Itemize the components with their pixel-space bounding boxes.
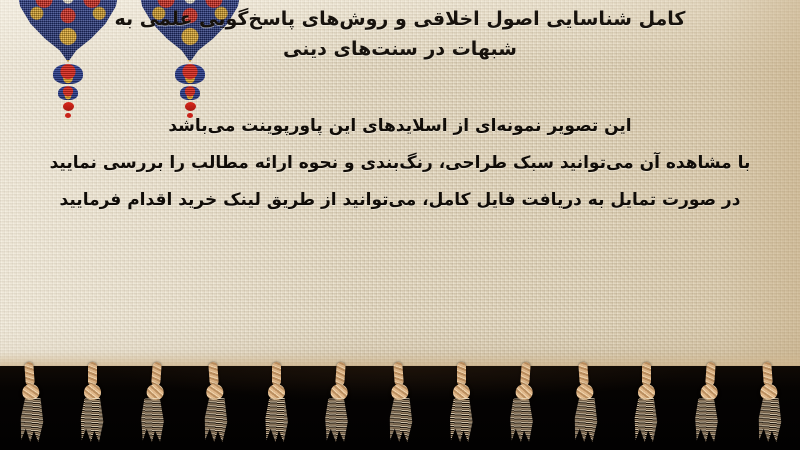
tassel-cord <box>704 362 715 387</box>
tassel-skirt <box>509 398 534 443</box>
carpet-fringe-tassel <box>629 362 663 442</box>
tassel-skirt <box>573 398 598 443</box>
tassel-skirt <box>758 398 783 443</box>
carpet-fringe-tassel <box>75 362 109 442</box>
tassel-knot <box>453 384 470 400</box>
tassel-skirt <box>140 398 165 443</box>
tassel-knot <box>638 384 655 400</box>
tassel-skirt <box>80 398 104 442</box>
tassel-cord <box>762 362 773 387</box>
carpet-fringe-band <box>0 366 800 450</box>
carpet-fringe-tassel <box>688 361 727 443</box>
tassel-cord <box>208 362 219 387</box>
tassel-cord <box>88 362 97 386</box>
carpet-fringe-tassel <box>380 361 419 443</box>
tassel-knot <box>84 384 101 400</box>
slide-body: این تصویر نمونه‌ای از اسلایدهای این پاور… <box>20 108 780 219</box>
carpet-fringe-tassel <box>196 361 235 443</box>
tassel-cord <box>272 362 281 386</box>
carpet-fringe-tassel <box>319 361 358 443</box>
carpet-fringe-tassel <box>260 362 294 442</box>
slide-body-line-1: این تصویر نمونه‌ای از اسلایدهای این پاور… <box>20 108 780 145</box>
tassel-cord <box>577 362 588 387</box>
tassel-skirt <box>19 398 44 443</box>
slide-body-line-2: با مشاهده آن می‌توانید سبک طراحی، رنگ‌بن… <box>20 145 780 182</box>
carpet-fringe-tassel <box>565 361 604 443</box>
tassel-skirt <box>265 398 289 442</box>
tassel-cord <box>335 362 346 387</box>
slide-canvas: کامل شناسایی اصول اخلاقی و روش‌های پاسخ‌… <box>0 0 800 450</box>
carpet-fringe-tassel <box>749 361 788 443</box>
tassel-skirt <box>325 398 350 443</box>
slide-title-line-1: کامل شناسایی اصول اخلاقی و روش‌های پاسخ‌… <box>90 4 710 34</box>
tassel-cord <box>642 362 651 386</box>
slide-body-line-3: در صورت تمایل به دریافت فایل کامل، می‌تو… <box>20 182 780 219</box>
tassel-skirt <box>694 398 719 443</box>
tassel-skirt <box>389 398 414 443</box>
carpet-fringe-tassel <box>11 361 50 443</box>
tassel-cord <box>150 362 161 387</box>
tassel-skirt <box>204 398 229 443</box>
tassel-knot <box>268 384 285 400</box>
slide-title-line-2: شبهات در سنت‌های دینی <box>90 34 710 64</box>
tassel-cord <box>23 362 34 387</box>
carpet-fringe-tassel <box>134 361 173 443</box>
tassel-skirt <box>450 398 474 442</box>
carpet-fringe-tassel <box>445 362 479 442</box>
tassel-skirt <box>634 398 658 442</box>
tassel-cord <box>457 362 466 386</box>
slide-title: کامل شناسایی اصول اخلاقی و روش‌های پاسخ‌… <box>90 4 710 64</box>
slide-text-layer: کامل شناسایی اصول اخلاقی و روش‌های پاسخ‌… <box>0 0 800 372</box>
carpet-fringe-tassel <box>503 361 542 443</box>
tassel-cord <box>393 362 404 387</box>
tassel-cord <box>520 362 531 387</box>
